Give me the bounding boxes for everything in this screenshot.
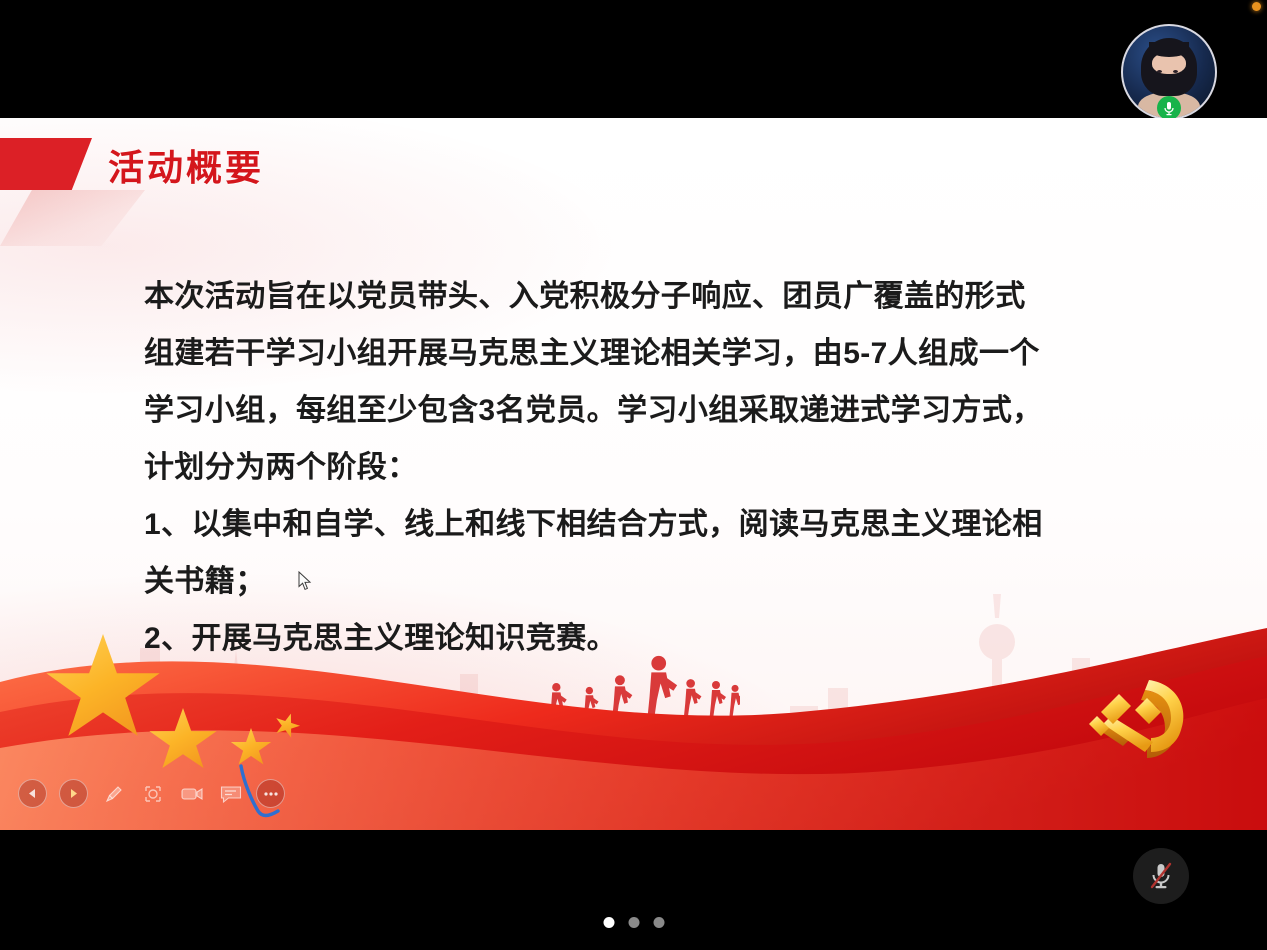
video-icon xyxy=(180,784,204,804)
next-slide-button[interactable] xyxy=(59,779,88,808)
laser-pointer-button[interactable] xyxy=(139,780,166,807)
avatar-bangs xyxy=(1149,42,1189,57)
slide-toolbar[interactable] xyxy=(18,779,285,808)
pagination-dot[interactable] xyxy=(603,917,614,928)
previous-slide-button[interactable] xyxy=(18,779,47,808)
body-line: 本次活动旨在以党员带头、入党积极分子响应、团员广覆盖的形式 xyxy=(144,268,1104,325)
slide-stage[interactable]: 活动概要 本次活动旨在以党员带头、入党积极分子响应、团员广覆盖的形式 组建若干学… xyxy=(0,118,1267,830)
screen-share-window: 蔡笑晗 活动概要 本次活动旨在以党员带头、入党积极分子响应、团员广覆盖的形式 组… xyxy=(0,0,1267,950)
chevron-left-icon xyxy=(26,787,39,800)
page-title: 活动概要 xyxy=(108,146,264,190)
avatar-eye-right xyxy=(1173,70,1178,73)
chat-icon xyxy=(219,784,243,804)
pagination-dots[interactable] xyxy=(603,917,664,928)
mute-microphone-button[interactable] xyxy=(1133,848,1189,904)
orange-status-dot xyxy=(1252,2,1261,11)
body-line: 关书籍； xyxy=(144,553,1104,610)
pen-icon xyxy=(103,783,125,805)
screen-share-button[interactable] xyxy=(178,780,205,807)
pagination-dot[interactable] xyxy=(653,917,664,928)
microphone-muted-icon xyxy=(1148,861,1174,891)
body-line: 学习小组，每组至少包含3名党员。学习小组采取递进式学习方式， xyxy=(144,382,1104,439)
body-line: 计划分为两个阶段： xyxy=(144,439,1104,496)
avatar-eye-left xyxy=(1157,70,1162,73)
play-icon xyxy=(67,787,80,800)
microphone-on-icon xyxy=(1157,96,1181,120)
body-line: 组建若干学习小组开展马克思主义理论相关学习，由5-7人组成一个 xyxy=(144,325,1104,382)
more-options-button[interactable] xyxy=(256,779,285,808)
bottom-bar xyxy=(0,830,1267,950)
slide-body-text: 本次活动旨在以党员带头、入党积极分子响应、团员广覆盖的形式 组建若干学习小组开展… xyxy=(144,268,1104,667)
body-line: 1、以集中和自学、线上和线下相结合方式，阅读马克思主义理论相 xyxy=(144,496,1104,553)
body-line: 2、开展马克思主义理论知识竞赛。 xyxy=(144,610,1104,667)
pagination-dot[interactable] xyxy=(628,917,639,928)
annotate-pen-button[interactable] xyxy=(100,780,127,807)
notes-button[interactable] xyxy=(217,780,244,807)
crosshair-icon xyxy=(142,783,164,805)
ellipsis-icon xyxy=(263,791,279,797)
